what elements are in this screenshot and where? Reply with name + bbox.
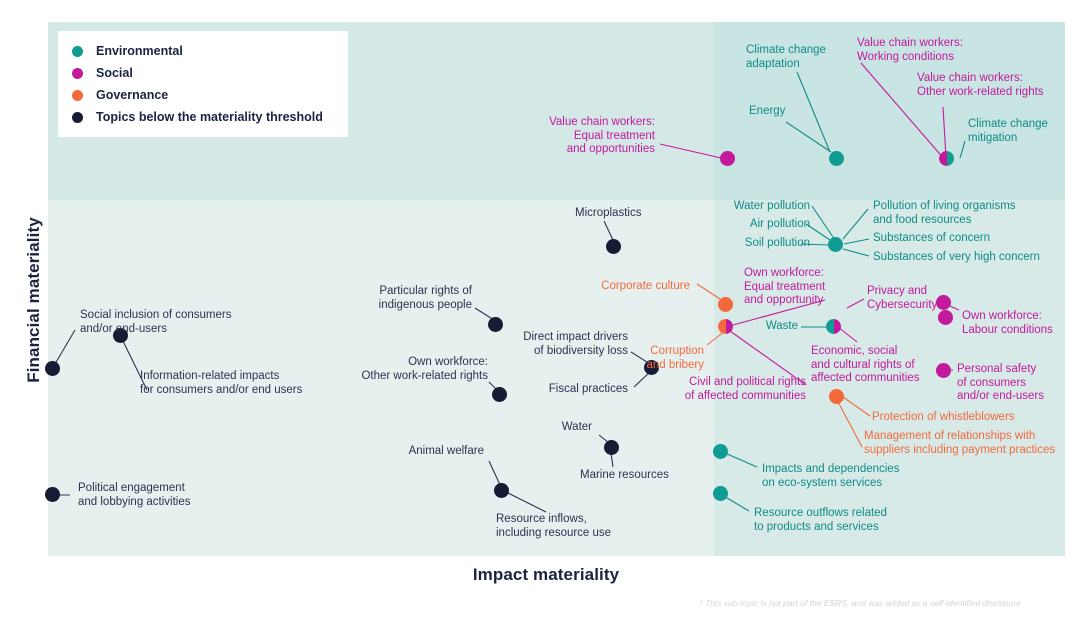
data-point-animal-welfare-inflows[interactable]: [494, 483, 509, 498]
label-substances-very-high-concern: Substances of very high concern: [873, 251, 1040, 265]
label-ow-labour-conditions: Own workforce: Labour conditions: [962, 310, 1053, 337]
label-vcw-working-conditions: Value chain workers: Working conditions: [857, 37, 963, 64]
data-point-indigenous-rights[interactable]: [488, 317, 503, 332]
data-point-resource-outflows[interactable]: [713, 486, 728, 501]
data-point-whistleblowers-suppliers[interactable]: [829, 389, 844, 404]
label-personal-safety-consumers: Personal safety of consumers and/or end-…: [957, 363, 1044, 404]
legend-dot-environmental-icon: [72, 46, 83, 57]
label-waste: Waste: [690, 320, 798, 334]
data-point-ecosystem-services[interactable]: [713, 444, 728, 459]
label-water-pollution: Water pollution: [650, 200, 810, 214]
y-axis-title: Financial materiality: [24, 180, 44, 420]
data-point-ow-labour-conditions[interactable]: [936, 295, 951, 310]
legend-item-governance[interactable]: Governance: [72, 84, 336, 106]
label-fiscal-practices: Fiscal practices: [460, 383, 628, 397]
data-point-privacy-cybersecurity[interactable]: [938, 310, 953, 325]
label-protection-of-whistleblowers: Protection of whistleblowers: [872, 411, 1015, 425]
materiality-matrix-chart: Climate change adaptation Energy Climate…: [0, 0, 1092, 623]
label-management-supplier-relationships: Management of relationships with supplie…: [864, 430, 1055, 457]
label-microplastics: Microplastics: [575, 207, 641, 221]
label-corruption-and-bribery: Corruption and bribery: [540, 345, 704, 372]
footnote: ¹ This sub-topic is not part of the ESRS…: [700, 598, 1080, 608]
label-vcw-equal-treatment: Value chain workers: Equal treatment and…: [400, 116, 655, 157]
data-point-microplastics[interactable]: [606, 239, 621, 254]
label-pollution-living-organisms: Pollution of living organisms and food r…: [873, 200, 1016, 227]
legend-item-below-threshold[interactable]: Topics below the materiality threshold: [72, 106, 336, 128]
label-corporate-culture: Corporate culture: [500, 280, 690, 294]
label-climate-change-mitigation: Climate change mitigation: [968, 118, 1048, 145]
label-climate-change-adaptation: Climate change adaptation: [746, 44, 826, 71]
legend-dot-social-icon: [72, 68, 83, 79]
label-vcw-other-work-related-rights: Value chain workers: Other work-related …: [917, 72, 1044, 99]
x-axis-title: Impact materiality: [0, 565, 1092, 585]
label-info-related-impacts: Information-related impacts for consumer…: [140, 370, 302, 397]
label-ow-equal-treatment: Own workforce: Equal treatment and oppor…: [744, 267, 825, 308]
data-point-waste-economic-rights[interactable]: [826, 319, 841, 334]
legend-label-environmental: Environmental: [96, 44, 183, 58]
label-resource-inflows: Resource inflows, including resource use: [496, 513, 611, 540]
label-ow-other-work-related-rights: Own workforce: Other work-related rights: [290, 356, 488, 383]
legend-label-governance: Governance: [96, 88, 168, 102]
data-point-climate-energy[interactable]: [829, 151, 844, 166]
legend-item-environmental[interactable]: Environmental: [72, 40, 336, 62]
data-point-political-engagement[interactable]: [45, 487, 60, 502]
label-civil-political-rights: Civil and political rights of affected c…: [610, 376, 806, 403]
data-point-social-inclusion[interactable]: [45, 361, 60, 376]
label-air-pollution: Air pollution: [650, 218, 810, 232]
label-animal-welfare: Animal welfare: [340, 445, 484, 459]
data-point-vcw-climate-mitigation[interactable]: [939, 151, 954, 166]
legend-item-social[interactable]: Social: [72, 62, 336, 84]
label-energy: Energy: [749, 105, 785, 119]
data-point-personal-safety[interactable]: [936, 363, 951, 378]
label-political-engagement: Political engagement and lobbying activi…: [78, 482, 191, 509]
data-point-vcw-equal-treatment[interactable]: [720, 151, 735, 166]
label-particular-rights-indigenous: Particular rights of indigenous people: [300, 285, 472, 312]
data-point-pollution-substances[interactable]: [828, 237, 843, 252]
data-point-water-marine[interactable]: [604, 440, 619, 455]
legend-dot-below-threshold-icon: [72, 112, 83, 123]
label-soil-pollution: Soil pollution: [650, 237, 810, 251]
data-point-corporate-culture[interactable]: [718, 297, 733, 312]
legend-label-social: Social: [96, 66, 133, 80]
label-social-inclusion: Social inclusion of consumers and/or end…: [80, 309, 232, 336]
label-economic-social-cultural-rights: Economic, social and cultural rights of …: [811, 345, 919, 386]
legend-label-below-threshold: Topics below the materiality threshold: [96, 110, 323, 124]
legend-dot-governance-icon: [72, 90, 83, 101]
label-impacts-ecosystem-services: Impacts and dependencies on eco-system s…: [762, 463, 899, 490]
legend: Environmental Social Governance Topics b…: [58, 31, 348, 137]
page-artifact: ···: [190, 598, 198, 607]
label-substances-of-concern: Substances of concern: [873, 232, 990, 246]
label-water: Water: [470, 421, 592, 435]
label-privacy-cybersecurity: Privacy and Cybersecurity: [867, 285, 937, 312]
label-resource-outflows: Resource outflows related to products an…: [754, 507, 887, 534]
label-marine-resources: Marine resources: [580, 469, 669, 483]
